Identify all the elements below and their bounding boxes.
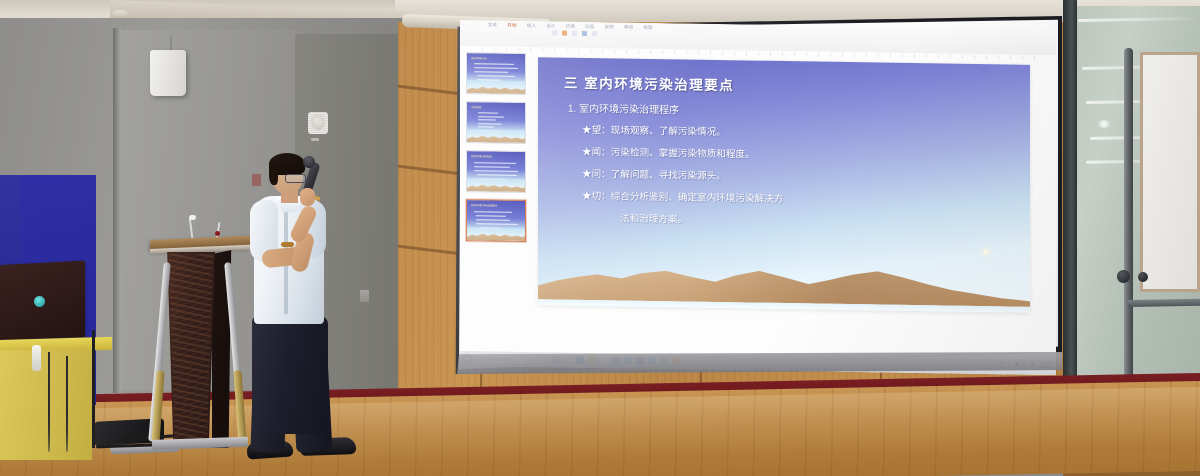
slide-subtitle: 1. 室内环境污染治理程序 xyxy=(568,100,679,117)
mountain-shading xyxy=(538,253,1030,307)
column-edge xyxy=(113,28,121,393)
whiteboard-marker-tray xyxy=(1128,299,1200,307)
thumbnail-title: 室内环境污染危害 xyxy=(471,154,492,158)
wall-fixture xyxy=(252,174,261,186)
ribbon-tab-animations[interactable]: 动画 xyxy=(585,24,594,30)
paste-icon[interactable] xyxy=(552,30,557,35)
cable xyxy=(48,352,50,452)
slide-title: 三 室内环境污染治理要点 xyxy=(564,72,734,95)
wall-speaker xyxy=(150,50,186,96)
ribbon-tab-slideshow[interactable]: 放映 xyxy=(604,24,613,30)
ribbon-tab-transitions[interactable]: 切换 xyxy=(566,24,575,30)
laptop-logo-icon xyxy=(34,296,45,307)
slide-bullet: ★望：现场观察、了解污染情况。 xyxy=(582,122,726,138)
slide-bullet: ★闻：污染检测、掌握污染物质和程度。 xyxy=(582,144,755,161)
thumbnail-title: 污染来源 xyxy=(471,105,481,109)
sun-icon xyxy=(984,250,988,254)
ribbon-tab-review[interactable]: 审阅 xyxy=(624,25,633,31)
new-slide-icon[interactable] xyxy=(562,31,567,36)
ribbon-tab-view[interactable]: 视图 xyxy=(643,25,652,31)
speaker-cone-icon xyxy=(311,114,325,130)
podium-microphone-head xyxy=(189,215,196,220)
ribbon-command-icons[interactable] xyxy=(552,30,597,36)
wall-outlet-icon xyxy=(360,290,369,302)
slide-bullet: ★切：综合分析鉴别、确定室内环境污染解决方 xyxy=(582,188,783,205)
powerpoint-window[interactable]: 文件 开始 插入 设计 切换 动画 放映 审阅 视图 室内环境污染 xyxy=(460,20,1056,375)
power-adapter xyxy=(32,345,41,371)
shapes-icon[interactable] xyxy=(582,31,587,36)
whiteboard-adjust-knob[interactable] xyxy=(1138,272,1148,282)
slide-bullet-continuation: 法和治理方案。 xyxy=(620,210,687,225)
presenter-glasses xyxy=(285,174,306,183)
ribbon-tab-insert[interactable]: 插入 xyxy=(527,23,536,29)
whiteboard-adjust-knob[interactable] xyxy=(1117,270,1130,283)
cable xyxy=(66,356,68,452)
arrange-icon[interactable] xyxy=(592,31,597,36)
thumbnail-title: 室内环境污染 xyxy=(471,56,487,60)
podium-mic-indicator-icon xyxy=(215,231,220,236)
ribbon-tab-design[interactable]: 设计 xyxy=(546,23,555,29)
glass-specular-highlight xyxy=(1098,120,1110,128)
presenter-wrist-band xyxy=(281,242,294,247)
thumbnail-title: 室内环境污染治理要点 xyxy=(471,203,497,207)
smoke-detector-icon xyxy=(112,10,128,17)
slide-bullet: ★问：了解问题、寻找污染源头。 xyxy=(582,166,726,182)
ribbon-tab-file[interactable]: 文件 xyxy=(488,22,497,28)
operator-table-body xyxy=(0,350,92,460)
font-icon[interactable] xyxy=(572,31,577,36)
current-slide[interactable]: 三 室内环境污染治理要点 1. 室内环境污染治理程序 ★望：现场观察、了解污染情… xyxy=(538,57,1030,313)
mic-stand-pole xyxy=(92,330,95,448)
glass-wall-mullion xyxy=(1063,0,1077,412)
presenter-hand xyxy=(300,188,315,206)
slide-thumbnail[interactable]: 室内环境污染危害 xyxy=(466,150,526,193)
presenter-hair-side xyxy=(269,165,278,185)
whiteboard xyxy=(1140,52,1200,292)
slide-thumbnail-selected[interactable]: 室内环境污染治理要点 xyxy=(466,199,526,242)
presenter-trousers xyxy=(252,316,328,434)
slide-thumbnail[interactable]: 污染来源 xyxy=(466,101,526,144)
speaker-badge xyxy=(311,138,319,141)
ribbon-tab-row[interactable]: 文件 开始 插入 设计 切换 动画 放映 审阅 视图 xyxy=(488,22,653,31)
slide-thumbnail[interactable]: 室内环境污染 xyxy=(466,52,526,95)
slide-thumbnail-pane[interactable]: 室内环境污染 污染来源 室内环境污染危害 xyxy=(466,52,528,321)
ribbon-tab-home[interactable]: 开始 xyxy=(507,23,516,29)
lecture-hall-photo: 文件 开始 插入 设计 切换 动画 放映 审阅 视图 室内环境污染 xyxy=(0,0,1200,476)
